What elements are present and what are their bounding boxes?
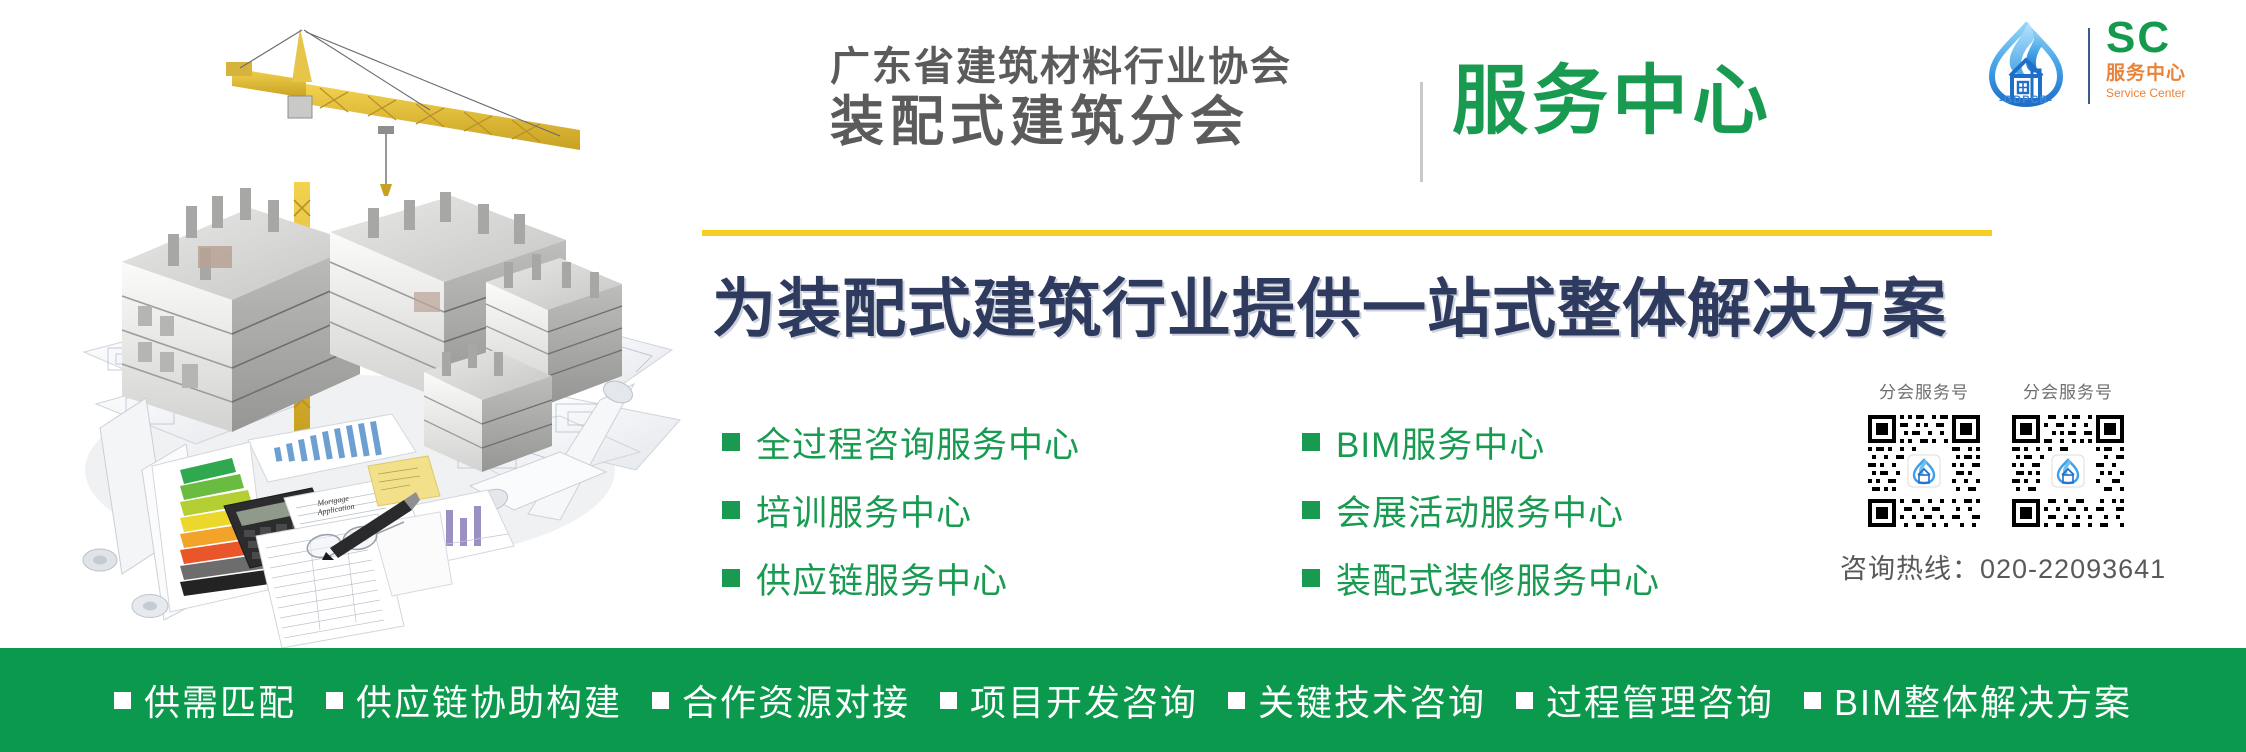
bottom-service-bar: 供需匹配 供应链协助构建 合作资源对接 项目开发咨询 关键技术咨询 过程管理咨询 bbox=[0, 648, 2246, 752]
service-item-label: 供应链服务中心 bbox=[756, 553, 1008, 604]
list-item[interactable]: 项目开发咨询 bbox=[940, 674, 1198, 726]
square-bullet-icon bbox=[1302, 569, 1320, 587]
square-bullet-icon bbox=[1516, 692, 1533, 709]
header-vertical-divider bbox=[1420, 82, 1423, 182]
list-item[interactable]: 合作资源对接 bbox=[652, 674, 910, 726]
sc-logo-english: Service Center bbox=[2106, 86, 2230, 100]
qr-code-caption: 分会服务号 bbox=[1862, 378, 1986, 403]
service-item-label: BIM服务中心 bbox=[1336, 417, 1545, 468]
list-item[interactable]: 装配式装修服务中心 bbox=[1302, 544, 1660, 612]
qr-code-cell: 分会服务号 bbox=[2006, 378, 2130, 533]
association-name-block: 广东省建筑材料行业协会 装配式建筑分会 bbox=[830, 44, 1430, 154]
logo-cluster: -GDPCB- SC 服务中心 Service Center bbox=[1978, 14, 2230, 114]
square-bullet-icon bbox=[1302, 501, 1320, 519]
list-item[interactable]: BIM服务中心 bbox=[1302, 408, 1660, 476]
sc-logo-block: SC 服务中心 Service Center bbox=[2106, 16, 2230, 100]
square-bullet-icon bbox=[114, 692, 131, 709]
banner-root: Mortgage Application bbox=[0, 0, 2246, 752]
service-center-title: 服务中心 bbox=[1452, 54, 1772, 149]
square-bullet-icon bbox=[1804, 692, 1821, 709]
logo-vertical-divider bbox=[2088, 28, 2090, 104]
list-item[interactable]: 过程管理咨询 bbox=[1516, 674, 1774, 726]
list-item[interactable]: 供应链服务中心 bbox=[722, 544, 1080, 612]
bottom-item-label: BIM整体解决方案 bbox=[1834, 674, 2132, 726]
bottom-bar-items: 供需匹配 供应链协助构建 合作资源对接 项目开发咨询 关键技术咨询 过程管理咨询 bbox=[114, 674, 2132, 726]
list-item[interactable]: 全过程咨询服务中心 bbox=[722, 408, 1080, 476]
qr-code-block: 分会服务号 bbox=[1862, 378, 2152, 533]
service-item-label: 全过程咨询服务中心 bbox=[756, 417, 1080, 468]
bottom-item-label: 关键技术咨询 bbox=[1258, 674, 1486, 726]
bottom-item-label: 供应链协助构建 bbox=[356, 674, 622, 726]
sc-logo-chinese: 服务中心 bbox=[2106, 62, 2230, 86]
list-item[interactable]: BIM整体解决方案 bbox=[1804, 674, 2132, 726]
square-bullet-icon bbox=[722, 569, 740, 587]
qr-code-row: 分会服务号 bbox=[1862, 378, 2152, 533]
bottom-item-label: 项目开发咨询 bbox=[970, 674, 1198, 726]
bottom-item-label: 合作资源对接 bbox=[682, 674, 910, 726]
square-bullet-icon bbox=[1302, 433, 1320, 451]
bottom-item-label: 过程管理咨询 bbox=[1546, 674, 1774, 726]
association-name-line1: 广东省建筑材料行业协会 bbox=[830, 44, 1430, 91]
square-bullet-icon bbox=[1228, 692, 1245, 709]
service-item-label: 培训服务中心 bbox=[756, 485, 972, 536]
list-item[interactable]: 供需匹配 bbox=[114, 674, 296, 726]
qr-code-icon[interactable] bbox=[2006, 409, 2130, 533]
list-item[interactable]: 关键技术咨询 bbox=[1228, 674, 1486, 726]
sc-logo-letters: SC bbox=[2106, 16, 2230, 60]
qr-code-cell: 分会服务号 bbox=[1862, 378, 1986, 533]
service-item-label: 装配式装修服务中心 bbox=[1336, 553, 1660, 604]
square-bullet-icon bbox=[722, 433, 740, 451]
hotline-text: 咨询热线：020-22093641 bbox=[1840, 547, 2166, 586]
bottom-item-label: 供需匹配 bbox=[144, 674, 296, 726]
qr-code-caption: 分会服务号 bbox=[2006, 378, 2130, 403]
service-list-right-column: BIM服务中心 会展活动服务中心 装配式装修服务中心 bbox=[1302, 408, 1660, 612]
association-name-line2: 装配式建筑分会 bbox=[830, 91, 1430, 154]
service-list-left-column: 全过程咨询服务中心 培训服务中心 供应链服务中心 bbox=[722, 408, 1080, 612]
logo-emblem-text: -GDPCB- bbox=[1978, 94, 2074, 106]
list-item[interactable]: 会展活动服务中心 bbox=[1302, 476, 1660, 544]
construction-site-3d-illustration: Mortgage Application bbox=[0, 0, 700, 648]
qr-code-icon[interactable] bbox=[1862, 409, 1986, 533]
square-bullet-icon bbox=[652, 692, 669, 709]
list-item[interactable]: 培训服务中心 bbox=[722, 476, 1080, 544]
square-bullet-icon bbox=[722, 501, 740, 519]
square-bullet-icon bbox=[326, 692, 343, 709]
service-item-label: 会展活动服务中心 bbox=[1336, 485, 1624, 536]
square-bullet-icon bbox=[940, 692, 957, 709]
page-title: 为装配式建筑行业提供一站式整体解决方案 bbox=[712, 258, 1947, 350]
list-item[interactable]: 供应链协助构建 bbox=[326, 674, 622, 726]
yellow-divider-rule bbox=[702, 230, 1992, 236]
